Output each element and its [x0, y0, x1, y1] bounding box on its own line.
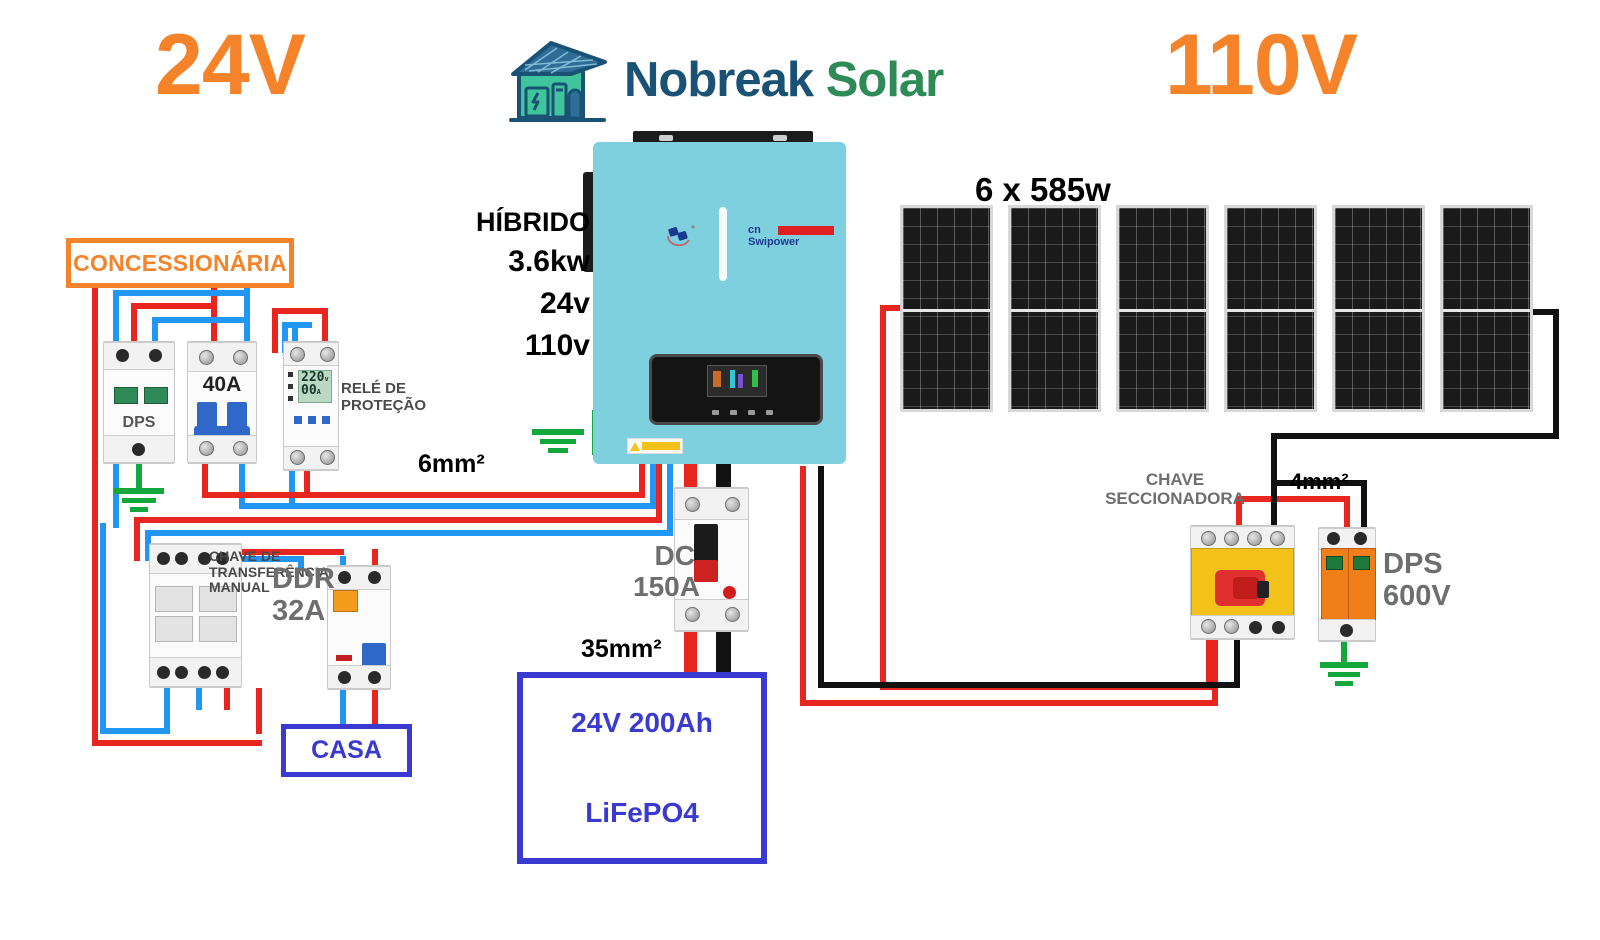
- wire-red-ddr-in-corner: [372, 549, 378, 555]
- wire-red-pv-left-down: [880, 305, 886, 690]
- wire-blue-bus-to-dps: [152, 317, 250, 323]
- ct-screw-7: [198, 666, 211, 679]
- wire-green-dps-dc-earth: [1341, 642, 1347, 664]
- inverter-key-3[interactable]: [748, 410, 755, 415]
- wire-black-inverter-pv-in: [818, 466, 824, 688]
- earth-bar-1-dps-ac: [114, 488, 164, 494]
- solar-house-icon: [505, 34, 610, 126]
- wire-red-dps-dc-link: [1236, 496, 1350, 502]
- label-disconnect-switch: CHAVE SECCIONADORA: [1100, 470, 1250, 508]
- device-dps-ac[interactable]: DPS: [103, 341, 175, 464]
- label-cable-35mm: 35mm²: [581, 635, 662, 663]
- bracket-hole-left: [659, 135, 673, 141]
- wire-blue-ct-return: [100, 728, 170, 734]
- dpsdc-screw-1: [1327, 532, 1340, 545]
- relay-screw-4: [320, 450, 335, 465]
- relay-screw-2: [320, 347, 335, 362]
- wire-black-pv-right-run: [1271, 433, 1559, 439]
- wire-red-6mm-run: [285, 492, 645, 498]
- dcbrk-screw-3: [685, 607, 700, 622]
- solar-panel-2: [1008, 205, 1101, 412]
- wire-red-ct-return-up: [92, 523, 98, 746]
- label-inverter-type: HÍBRIDO: [455, 207, 590, 237]
- brand-logo: Nobreak Solar: [505, 30, 1045, 130]
- wire-black-pv-right-down: [1553, 309, 1559, 439]
- wire-red-relay-in: [272, 308, 278, 353]
- ddr-screw-2: [368, 571, 381, 584]
- device-breaker-40a[interactable]: 40A: [187, 341, 257, 464]
- ct-screw-2: [175, 552, 188, 565]
- label-inverter-dc-voltage: 24v: [455, 287, 590, 321]
- relay-button-down[interactable]: [322, 416, 330, 424]
- caution-text-bar: [642, 442, 680, 450]
- wire-red-ct-out2: [256, 688, 262, 734]
- brand-name: Nobreak Solar: [624, 52, 943, 108]
- label-inverter-ac-voltage: 110v: [455, 329, 590, 363]
- label-inverter-power: 3.6kw: [455, 245, 590, 279]
- bracket-hole-right: [773, 135, 787, 141]
- relay-current-unit: A: [317, 388, 321, 396]
- inverter-display-panel[interactable]: [649, 354, 823, 425]
- dps-ac-screw-1: [116, 349, 129, 362]
- label-protection-relay: RELÉ DE PROTEÇÃO: [341, 381, 426, 415]
- inverter-key-4[interactable]: [766, 410, 773, 415]
- wire-red-ct-return: [92, 740, 262, 746]
- dps-ac-screw-3: [132, 443, 145, 456]
- ddr-screw-3: [338, 671, 351, 684]
- wire-red-bus-to-dps: [131, 303, 217, 309]
- wire-red-casa: [372, 700, 378, 727]
- label-ddr-rating: DDR 32A: [272, 563, 335, 628]
- relay-button-set[interactable]: [294, 416, 302, 424]
- relay-indicator-1: [288, 372, 293, 377]
- dpsdc-window-1: [1326, 556, 1343, 570]
- panel-1-divider: [903, 309, 990, 312]
- label-dc-breaker-rating: DC 150A: [633, 540, 695, 603]
- earth-bar-2-dps-ac: [122, 498, 156, 503]
- earth-bar-2-inverter: [540, 439, 576, 444]
- relay-button-up[interactable]: [308, 416, 316, 424]
- inverter-brand-icon: [665, 222, 697, 248]
- wire-red-inverter-ac-out: [134, 517, 662, 523]
- wiring-diagram-canvas: 24V 110V Nobreak Solar: [0, 0, 1600, 940]
- battery-chemistry-label: LiFePO4: [585, 797, 699, 829]
- inverter-lcd-screen: [707, 365, 767, 397]
- cs-rotary-knob-inner[interactable]: [1233, 577, 1259, 599]
- wire-red-ct-out1: [224, 688, 230, 710]
- wire-red-inverter-ac-in: [639, 459, 645, 498]
- ct-screw-1: [157, 552, 170, 565]
- wire-blue-ct-return-up: [100, 523, 106, 734]
- wire-blue-6mm-run: [285, 503, 656, 509]
- wire-green-dps-earth: [136, 464, 142, 490]
- battery-spec-label: 24V 200Ah: [571, 707, 713, 739]
- earth-bar-1-inverter: [532, 429, 584, 435]
- brand-name-part1: Nobreak: [624, 53, 813, 107]
- earth-bar-1-dps-dc: [1320, 662, 1368, 668]
- breaker-40a-label: 40A: [188, 373, 256, 397]
- solar-panel-5: [1332, 205, 1425, 412]
- wire-red-bus-down-ct: [134, 517, 140, 561]
- panel-2-divider: [1011, 309, 1098, 312]
- dc-breaker-indicator: [723, 586, 736, 599]
- label-cable-6mm: 6mm²: [418, 450, 485, 478]
- relay-lcd-display: 220v 00A: [298, 370, 332, 403]
- wire-black-disconnect-in: [1234, 640, 1240, 688]
- house-load-box[interactable]: CASA: [281, 724, 412, 777]
- wire-red-inverter-ac-out-drop: [656, 459, 662, 523]
- wire-red-disconnect-in: [1212, 640, 1218, 706]
- brk40-screw-2: [233, 350, 248, 365]
- brk40-screw-1: [199, 350, 214, 365]
- cs-screw-8: [1272, 621, 1285, 634]
- dpsdc-screw-2: [1354, 532, 1367, 545]
- device-protection-relay[interactable]: 220v 00A: [283, 341, 339, 471]
- cs-screw-5: [1201, 619, 1216, 634]
- ddr-test-button[interactable]: [333, 590, 358, 612]
- earth-bar-3-dps-dc: [1335, 681, 1353, 686]
- dps-ac-label: DPS: [104, 414, 174, 432]
- solar-panel-6: [1440, 205, 1533, 412]
- label-cable-4mm: 4mm²: [1290, 470, 1349, 495]
- wire-blue-inverter-ac-out: [145, 530, 673, 536]
- wire-black-inverter-pv-run: [818, 682, 1240, 688]
- panel-5-divider: [1335, 309, 1422, 312]
- wire-blue-casa: [340, 700, 346, 727]
- earth-bar-3-dps-ac: [130, 507, 148, 512]
- warning-triangle-icon: [630, 442, 640, 451]
- wire-red-inverter-pv-run: [800, 700, 1218, 706]
- relay-current-value: 00: [301, 383, 317, 398]
- relay-indicator-3: [288, 396, 293, 401]
- wire-red-inverter-pv-in: [800, 466, 806, 706]
- ddr-screw-4: [368, 671, 381, 684]
- dcbrk-screw-1: [685, 497, 700, 512]
- dps-ac-window-2: [144, 387, 168, 404]
- cs-screw-1: [1201, 531, 1216, 546]
- label-panel-array: 6 x 585w: [975, 172, 1111, 209]
- brand-name-part2: Solar: [826, 53, 944, 107]
- ct-screw-6: [175, 666, 188, 679]
- cs-screw-4: [1270, 531, 1285, 546]
- wire-black-dps-dc-drop: [1361, 480, 1367, 527]
- wire-blue-inverter-ac-out-drop: [667, 459, 673, 536]
- relay-screw-3: [290, 450, 305, 465]
- ddr-indicator-led: [336, 655, 352, 661]
- cs-screw-6: [1224, 619, 1239, 634]
- dps-ac-window-1: [114, 387, 138, 404]
- ct-screw-5: [157, 666, 170, 679]
- panel-3-divider: [1119, 309, 1206, 312]
- wire-red-relay-in-drop: [322, 308, 328, 344]
- dpsdc-window-2: [1353, 556, 1370, 570]
- device-dc-disconnect-switch[interactable]: [1190, 525, 1295, 640]
- solar-panel-4: [1224, 205, 1317, 412]
- cs-screw-7: [1249, 621, 1262, 634]
- relay-voltage-unit: v: [324, 375, 328, 383]
- voltage-label-ac: 110V: [1165, 22, 1357, 108]
- inverter-key-2[interactable]: [730, 410, 737, 415]
- cs-knob-handle[interactable]: [1257, 581, 1269, 598]
- ct-contact-block-1: [155, 586, 193, 612]
- dcbrk-screw-4: [725, 607, 740, 622]
- dcbrk-screw-2: [725, 497, 740, 512]
- wire-blue-left-main-top: [113, 290, 247, 296]
- dpsdc-screw-3: [1340, 624, 1353, 637]
- solar-panel-1: [900, 205, 993, 412]
- label-dps-dc-rating: DPS 600V: [1383, 548, 1451, 613]
- inverter-light-slot: [719, 207, 727, 281]
- ct-contact-block-4: [199, 616, 237, 642]
- relay-indicator-2: [288, 384, 293, 389]
- wire-black-disconnect-up: [1271, 480, 1277, 525]
- wire-blue-ct-out2: [196, 688, 202, 710]
- wire-red-dps-dc-drop: [1344, 496, 1350, 527]
- battery-box[interactable]: 24V 200Ah LiFePO4: [517, 672, 767, 864]
- earth-bar-2-dps-dc: [1328, 672, 1360, 677]
- brk40-screw-3: [199, 441, 214, 456]
- wire-red-relay-in-top: [272, 308, 328, 314]
- cs-screw-2: [1224, 531, 1239, 546]
- inverter-caution-sticker: [627, 438, 683, 454]
- solar-panel-3: [1116, 205, 1209, 412]
- device-hybrid-inverter[interactable]: cnSwipower: [593, 142, 846, 464]
- panel-6-divider: [1443, 309, 1530, 312]
- device-dps-dc-600v[interactable]: [1318, 527, 1376, 642]
- dps-ac-terminal-strip-top: [104, 342, 174, 370]
- panel-4-divider: [1227, 309, 1314, 312]
- ct-contact-block-3: [155, 616, 193, 642]
- inverter-brand-bar: [778, 226, 834, 235]
- cs-screw-3: [1247, 531, 1262, 546]
- wire-red-left-main: [92, 275, 98, 525]
- utility-grid-box[interactable]: CONCESSIONÁRIA: [66, 238, 294, 288]
- brk40-screw-4: [233, 441, 248, 456]
- device-ddr-rcd[interactable]: [327, 565, 391, 690]
- dps-ac-screw-2: [149, 349, 162, 362]
- relay-screw-1: [290, 347, 305, 362]
- ddr-screw-1: [338, 571, 351, 584]
- earth-bar-3-inverter: [548, 448, 568, 453]
- inverter-key-1[interactable]: [712, 410, 719, 415]
- ct-screw-8: [216, 666, 229, 679]
- voltage-label-dc: 24V: [155, 22, 305, 108]
